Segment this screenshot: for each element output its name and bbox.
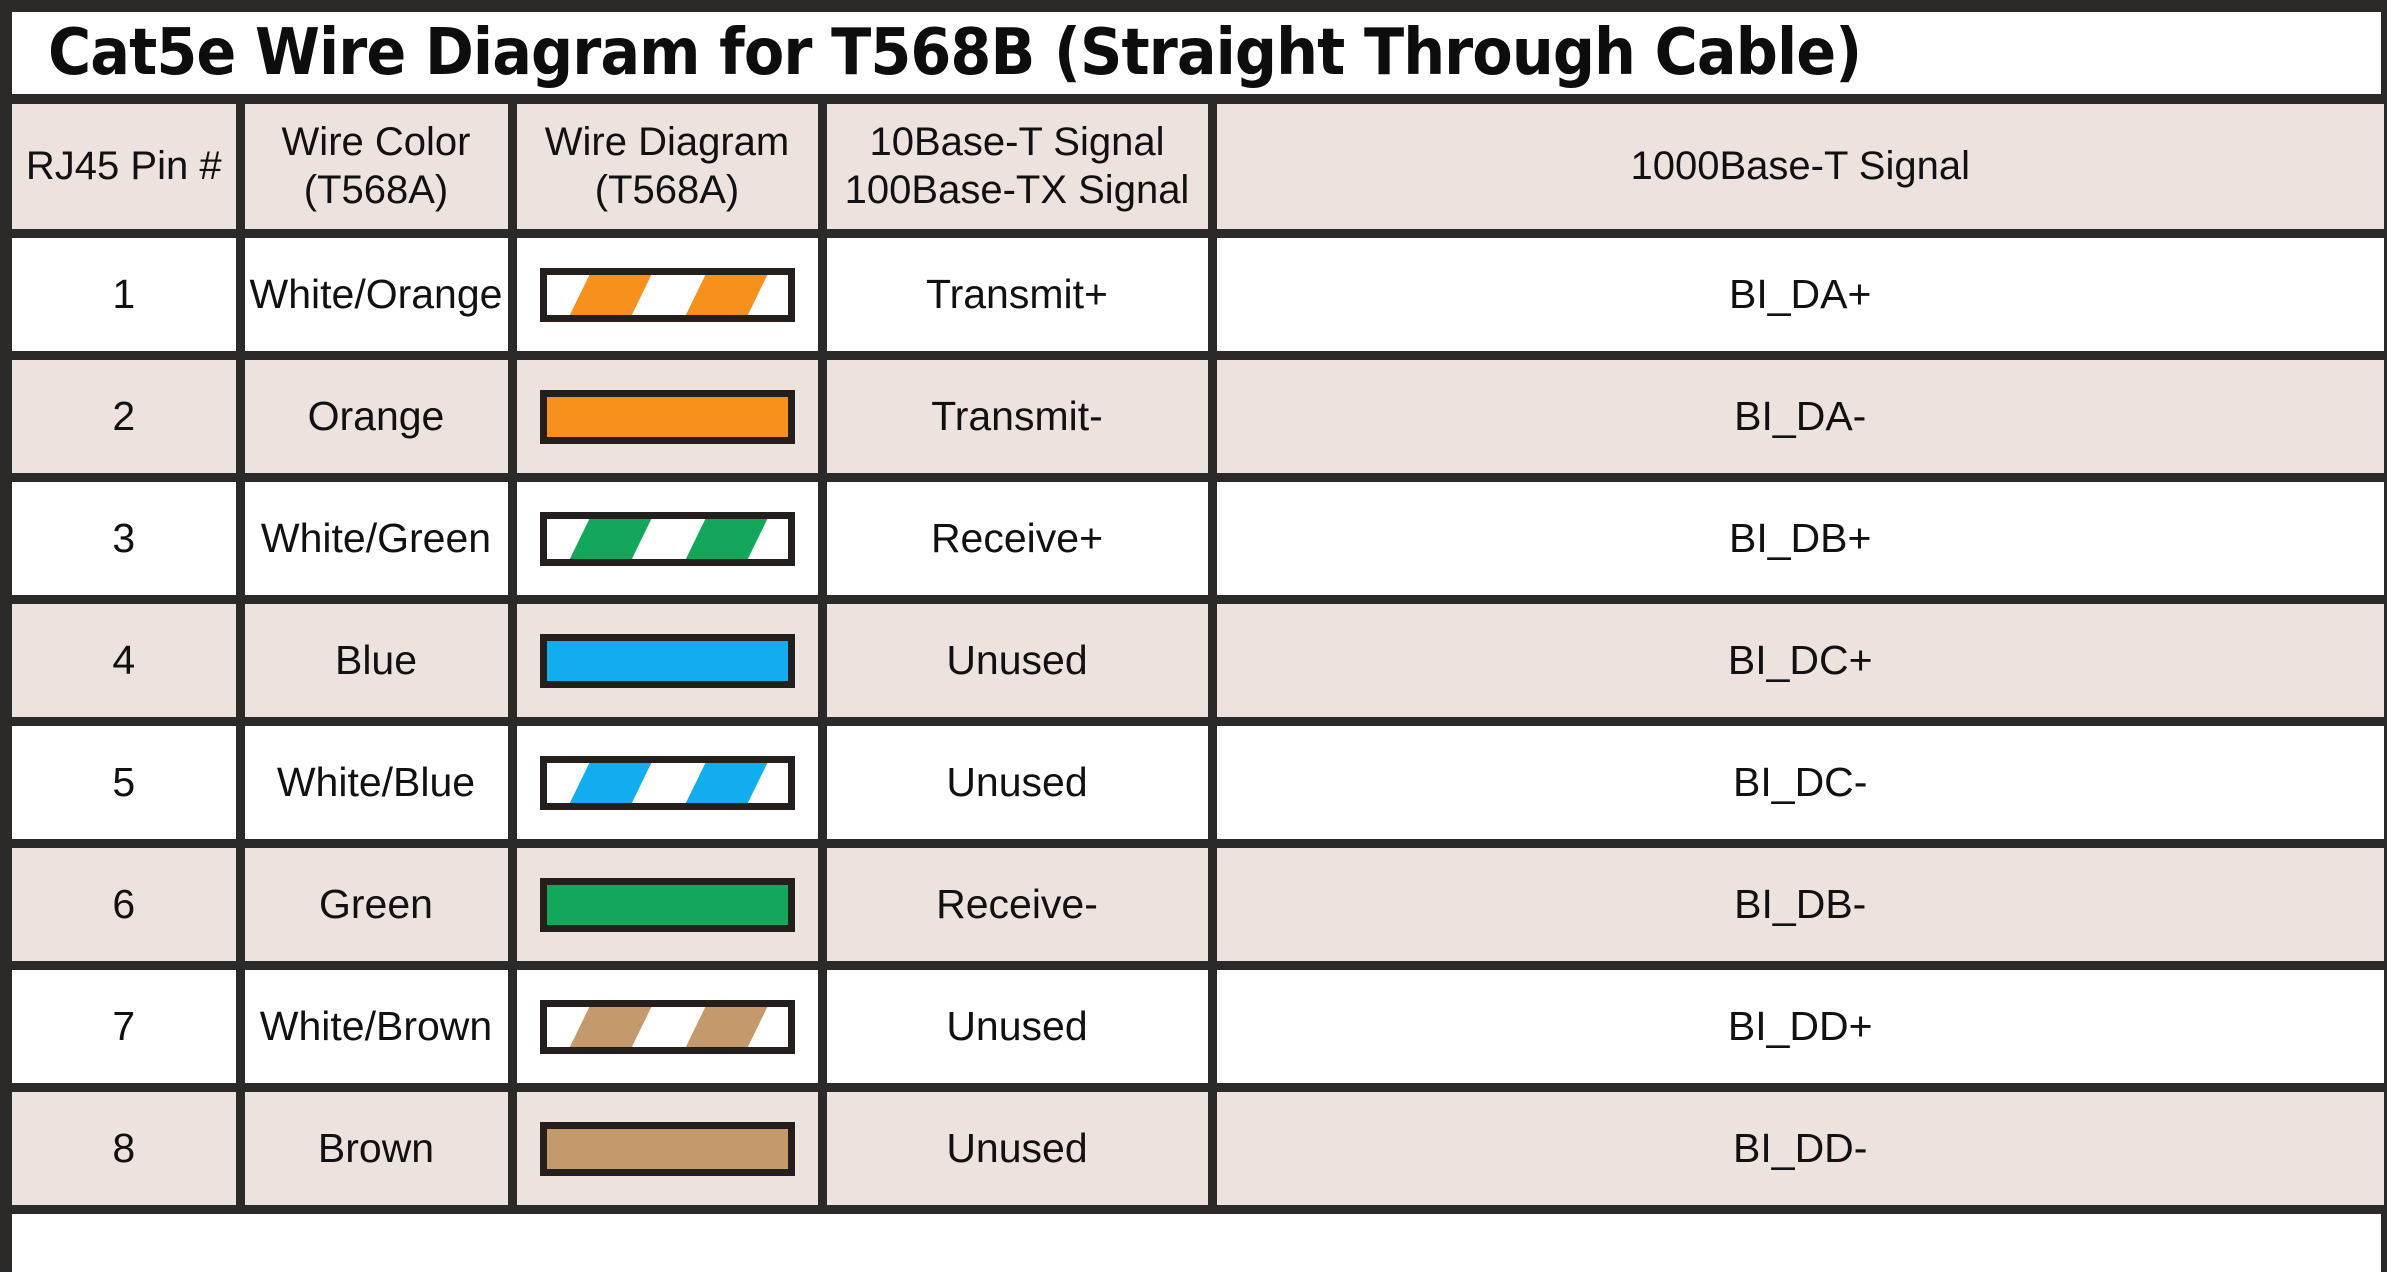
- wire-swatch-stripe: [675, 1000, 775, 1054]
- cell-wire-diagram: [512, 1088, 822, 1210]
- cell-pin-number: 5: [12, 722, 240, 844]
- wire-swatch-stripes: [540, 1000, 795, 1054]
- cell-wire-diagram: [512, 722, 822, 844]
- column-header-10base-line1: 10Base-T Signal: [827, 119, 1208, 166]
- cell-pin-number: 8: [12, 1088, 240, 1210]
- wire-swatch-stripes: [540, 268, 795, 322]
- cell-wire-color-name: Blue: [240, 600, 512, 722]
- column-header-wire-diagram-line1: Wire Diagram: [517, 119, 818, 166]
- cell-wire-color-name: White/Blue: [240, 722, 512, 844]
- column-header-wire-diagram-line2: (T568A): [517, 167, 818, 214]
- wire-pinout-table: RJ45 Pin # Wire Color (T568A) Wire Diagr…: [12, 104, 2384, 1214]
- column-header-pin: RJ45 Pin #: [12, 104, 240, 234]
- cell-pin-number: 2: [12, 356, 240, 478]
- table-header: RJ45 Pin # Wire Color (T568A) Wire Diagr…: [12, 104, 2384, 234]
- diagram-sheet: Cat5e Wire Diagram for T568B (Straight T…: [0, 0, 2387, 1272]
- cell-10base-signal: Transmit+: [822, 234, 1212, 356]
- column-header-wire-color-line1: Wire Color: [245, 119, 508, 166]
- wire-swatch-base: [547, 641, 788, 681]
- cell-10base-signal: Receive+: [822, 478, 1212, 600]
- column-header-wire-color-line2: (T568A): [245, 167, 508, 214]
- cell-1000base-signal: BI_DD-: [1212, 1088, 2384, 1210]
- cell-pin-number: 3: [12, 478, 240, 600]
- table-row: 1White/OrangeTransmit+BI_DA+: [12, 234, 2384, 356]
- cell-wire-color-name: White/Brown: [240, 966, 512, 1088]
- cell-1000base-signal: BI_DD+: [1212, 966, 2384, 1088]
- cell-1000base-signal: BI_DA-: [1212, 356, 2384, 478]
- column-header-10base-line2: 100Base-TX Signal: [827, 167, 1208, 214]
- cell-pin-number: 1: [12, 234, 240, 356]
- header-row: RJ45 Pin # Wire Color (T568A) Wire Diagr…: [12, 104, 2384, 234]
- cell-wire-color-name: White/Green: [240, 478, 512, 600]
- column-header-wire-diagram: Wire Diagram (T568A): [512, 104, 822, 234]
- table-row: 5White/BlueUnusedBI_DC-: [12, 722, 2384, 844]
- cell-1000base-signal: BI_DB-: [1212, 844, 2384, 966]
- wire-swatch-striped: [540, 1000, 795, 1054]
- column-header-wire-color: Wire Color (T568A): [240, 104, 512, 234]
- wire-swatch-solid: [540, 1122, 795, 1176]
- cell-wire-color-name: White/Orange: [240, 234, 512, 356]
- wire-swatch-stripe: [559, 268, 659, 322]
- wire-swatch-solid: [540, 634, 795, 688]
- cell-10base-signal: Unused: [822, 966, 1212, 1088]
- cell-10base-signal: Unused: [822, 600, 1212, 722]
- cell-wire-color-name: Green: [240, 844, 512, 966]
- wire-swatch-stripe: [559, 512, 659, 566]
- wire-swatch-stripes: [540, 756, 795, 810]
- wire-swatch-stripe: [559, 756, 659, 810]
- table-row: 7White/BrownUnusedBI_DD+: [12, 966, 2384, 1088]
- column-header-pin-label: RJ45 Pin #: [12, 143, 236, 190]
- column-header-1000base-signal: 1000Base-T Signal: [1212, 104, 2384, 234]
- cell-10base-signal: Receive-: [822, 844, 1212, 966]
- cell-wire-diagram: [512, 478, 822, 600]
- wire-swatch-striped: [540, 756, 795, 810]
- cell-wire-color-name: Orange: [240, 356, 512, 478]
- wire-swatch-stripes: [540, 512, 795, 566]
- wire-swatch-base: [547, 1129, 788, 1169]
- wire-swatch-solid: [540, 390, 795, 444]
- table-row: 6GreenReceive-BI_DB-: [12, 844, 2384, 966]
- cell-10base-signal: Transmit-: [822, 356, 1212, 478]
- cell-10base-signal: Unused: [822, 1088, 1212, 1210]
- cell-wire-diagram: [512, 966, 822, 1088]
- cell-pin-number: 7: [12, 966, 240, 1088]
- cell-wire-diagram: [512, 844, 822, 966]
- cell-wire-color-name: Brown: [240, 1088, 512, 1210]
- column-header-1000base-label: 1000Base-T Signal: [1217, 143, 2385, 190]
- cell-10base-signal: Unused: [822, 722, 1212, 844]
- cell-1000base-signal: BI_DC-: [1212, 722, 2384, 844]
- cell-1000base-signal: BI_DA+: [1212, 234, 2384, 356]
- table-row: 3White/GreenReceive+BI_DB+: [12, 478, 2384, 600]
- wire-swatch-base: [547, 885, 788, 925]
- cell-1000base-signal: BI_DC+: [1212, 600, 2384, 722]
- table-row: 2OrangeTransmit-BI_DA-: [12, 356, 2384, 478]
- cell-wire-diagram: [512, 356, 822, 478]
- cell-1000base-signal: BI_DB+: [1212, 478, 2384, 600]
- wire-swatch-striped: [540, 512, 795, 566]
- cell-wire-diagram: [512, 600, 822, 722]
- cell-pin-number: 6: [12, 844, 240, 966]
- table-row: 8BrownUnusedBI_DD-: [12, 1088, 2384, 1210]
- wire-swatch-base: [547, 397, 788, 437]
- cell-wire-diagram: [512, 234, 822, 356]
- cell-pin-number: 4: [12, 600, 240, 722]
- wire-swatch-stripe: [675, 512, 775, 566]
- wire-swatch-striped: [540, 268, 795, 322]
- column-header-10base-signal: 10Base-T Signal 100Base-TX Signal: [822, 104, 1212, 234]
- table-body: 1White/OrangeTransmit+BI_DA+2OrangeTrans…: [12, 234, 2384, 1210]
- wire-swatch-solid: [540, 878, 795, 932]
- title-banner: Cat5e Wire Diagram for T568B (Straight T…: [12, 12, 2381, 104]
- page-title: Cat5e Wire Diagram for T568B (Straight T…: [48, 21, 1861, 85]
- wire-swatch-stripe: [675, 268, 775, 322]
- table-row: 4BlueUnusedBI_DC+: [12, 600, 2384, 722]
- wire-swatch-stripe: [675, 756, 775, 810]
- wire-swatch-stripe: [559, 1000, 659, 1054]
